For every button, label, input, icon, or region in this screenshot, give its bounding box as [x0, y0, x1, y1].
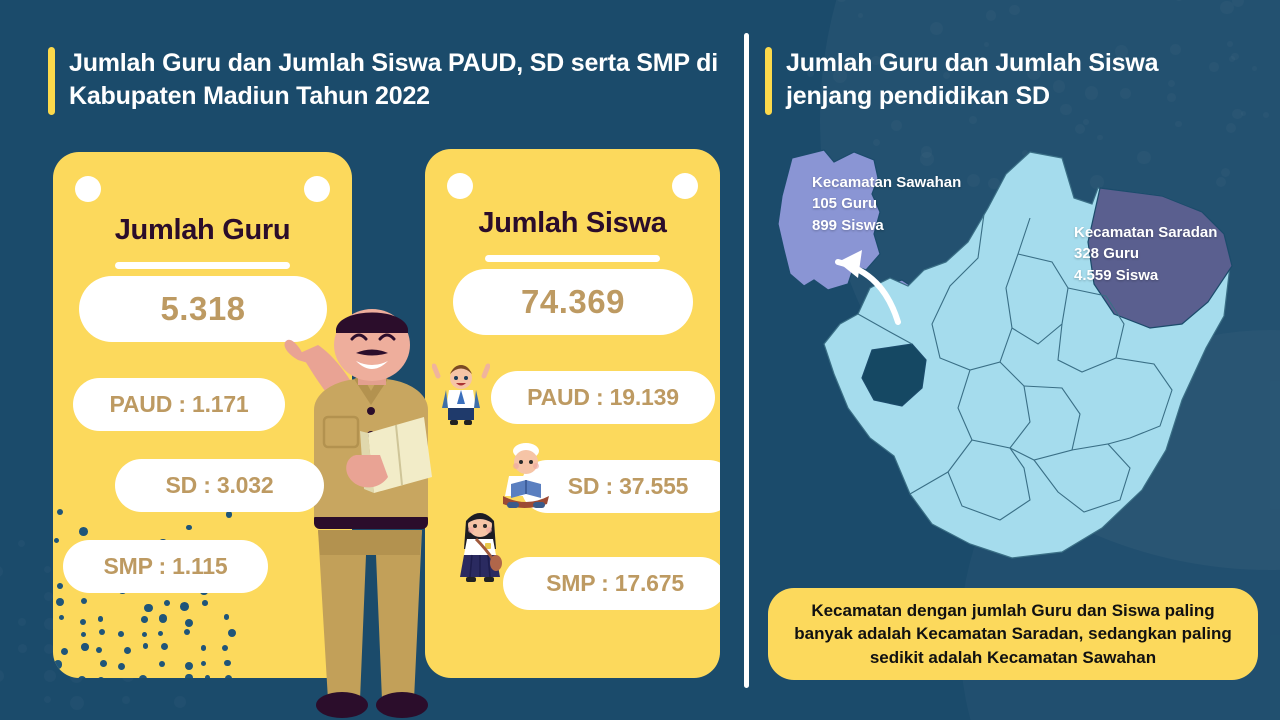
- stat-pill-paud-guru: PAUD : 1.171: [73, 378, 285, 431]
- title-accent-bar: [765, 47, 772, 115]
- stat-pill-smp-siswa: SMP : 17.675: [503, 557, 720, 610]
- student-girl-illustration: [452, 505, 508, 585]
- card-hole-left-icon: [447, 173, 473, 199]
- map-caption-box: Kecamatan dengan jumlah Guru dan Siswa p…: [768, 588, 1258, 680]
- map-label-saradan-name: Kecamatan Saradan: [1074, 222, 1217, 243]
- left-title-text: Jumlah Guru dan Jumlah Siswa PAUD, SD se…: [69, 47, 738, 112]
- student-boy-illustration: [432, 360, 490, 428]
- card-hole-right-icon: [304, 176, 330, 202]
- title-accent-bar: [48, 47, 55, 115]
- panel-divider: [744, 33, 749, 688]
- card-total-siswa: 74.369: [453, 269, 693, 335]
- map-label-saradan-teachers: 328 Guru: [1074, 243, 1217, 264]
- map-label-sawahan: Kecamatan Sawahan 105 Guru 899 Siswa: [812, 172, 961, 236]
- map-label-saradan-students: 4.559 Siswa: [1074, 265, 1217, 286]
- map-label-sawahan-teachers: 105 Guru: [812, 193, 961, 214]
- card-hole-right-icon: [672, 173, 698, 199]
- student-reading-illustration: [495, 440, 557, 512]
- card-underline: [485, 255, 660, 262]
- map-label-sawahan-name: Kecamatan Sawahan: [812, 172, 961, 193]
- right-panel-title: Jumlah Guru dan Jumlah Siswa jenjang pen…: [765, 47, 1235, 115]
- card-hole-left-icon: [75, 176, 101, 202]
- map-caption-text: Kecamatan dengan jumlah Guru dan Siswa p…: [786, 599, 1240, 669]
- map-label-saradan: Kecamatan Saradan 328 Guru 4.559 Siswa: [1074, 222, 1217, 286]
- map-label-sawahan-students: 899 Siswa: [812, 215, 961, 236]
- card-title-siswa: Jumlah Siswa: [425, 207, 720, 240]
- stat-pill-smp-guru: SMP : 1.115: [63, 540, 268, 593]
- card-title-guru: Jumlah Guru: [53, 214, 352, 247]
- stat-pill-paud-siswa: PAUD : 19.139: [491, 371, 715, 424]
- stat-pill-sd-guru: SD : 3.032: [115, 459, 324, 512]
- left-panel-title: Jumlah Guru dan Jumlah Siswa PAUD, SD se…: [48, 47, 738, 115]
- right-title-text: Jumlah Guru dan Jumlah Siswa jenjang pen…: [786, 47, 1235, 112]
- card-underline: [115, 262, 290, 269]
